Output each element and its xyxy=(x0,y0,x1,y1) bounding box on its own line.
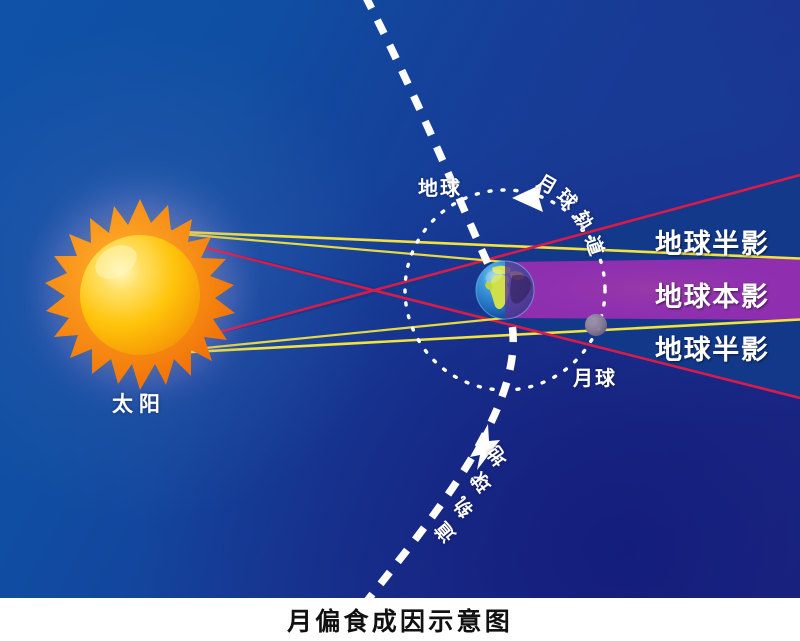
diagram-page: 太阳 地球 月球 地球半影 地球本影 地球半影 月 球 轨 道 地 球 轨 道 … xyxy=(0,0,800,641)
label-penumbra-upper: 地球半影 xyxy=(655,222,769,261)
moon-body xyxy=(585,314,607,336)
label-earth: 地球 xyxy=(418,172,462,201)
diagram-title: 月偏食成因示意图 xyxy=(0,598,800,641)
label-moon: 月球 xyxy=(573,362,617,391)
label-sun: 太阳 xyxy=(112,388,166,418)
label-moon-orbit xyxy=(535,168,536,169)
label-umbra: 地球本影 xyxy=(655,275,769,314)
diagram-title-text: 月偏食成因示意图 xyxy=(287,602,513,638)
sun-body xyxy=(12,167,268,423)
label-penumbra-lower: 地球半影 xyxy=(655,328,769,367)
diagram-canvas: 太阳 地球 月球 地球半影 地球本影 地球半影 月 球 轨 道 地 球 轨 道 xyxy=(0,0,800,598)
